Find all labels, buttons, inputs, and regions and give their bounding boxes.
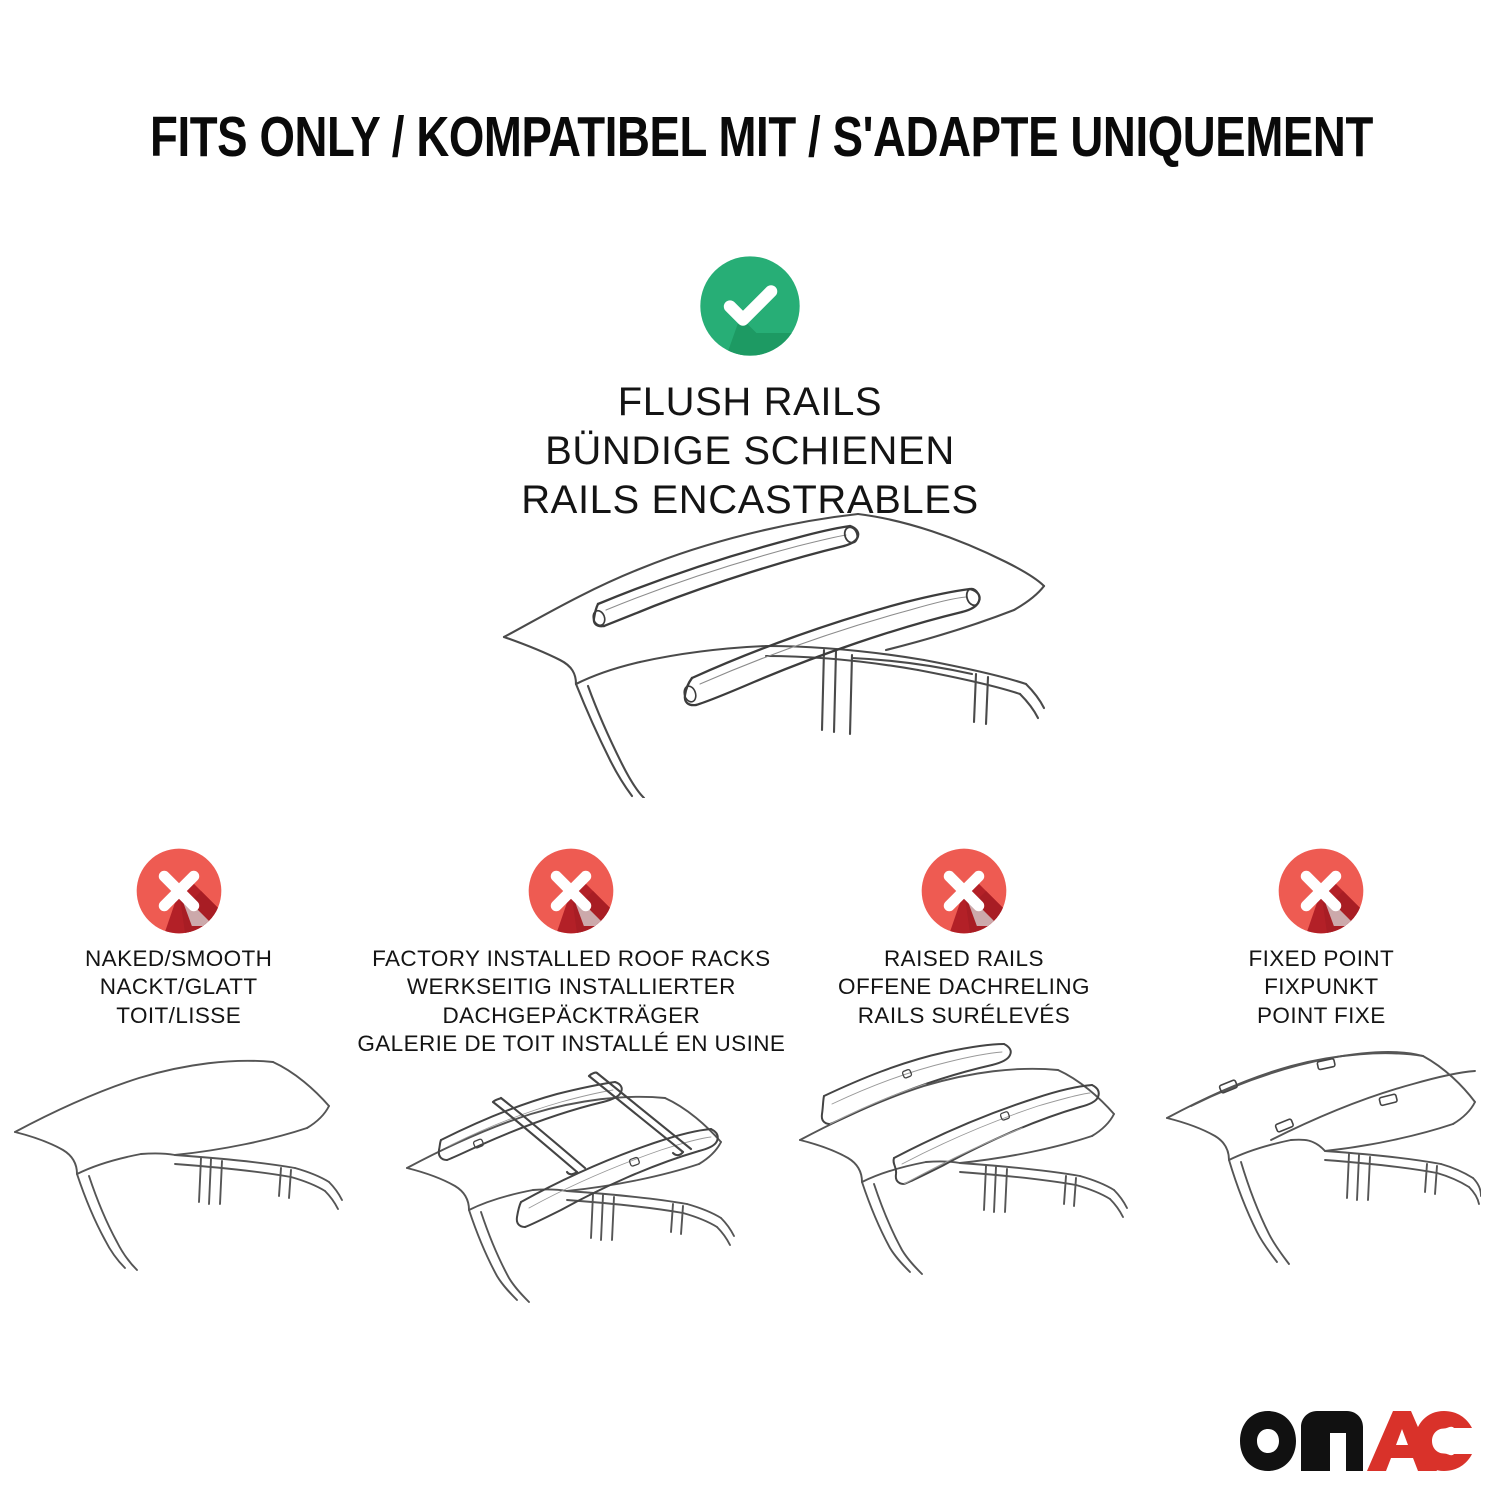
compatible-label-en: FLUSH RAILS: [0, 378, 1500, 427]
omac-logo-letter-m: [1301, 1411, 1363, 1471]
page-title: FITS ONLY / KOMPATIBEL MIT / S'ADAPTE UN…: [150, 104, 1350, 170]
label-line-fr: POINT FIXE: [1248, 1002, 1394, 1030]
label-line-de: OFFENE DACHRELING: [838, 973, 1090, 1001]
red-x-circle-icon: [133, 845, 225, 937]
car-roof-factory-roof-racks-illustration: [357, 1068, 785, 1303]
incompatible-label-fixed-point: FIXED POINT FIXPUNKT POINT FIXE: [1248, 945, 1394, 1030]
label-line-de: FIXPUNKT: [1248, 973, 1394, 1001]
incompatible-label-raised-rails: RAISED RAILS OFFENE DACHRELING RAILS SUR…: [838, 945, 1090, 1030]
label-line-fr: TOIT/LISSE: [85, 1002, 272, 1030]
label-line-en: FIXED POINT: [1248, 945, 1394, 973]
green-check-circle-icon: [696, 252, 804, 360]
omac-logo-letter-o: [1240, 1411, 1296, 1471]
car-roof-naked-smooth-illustration: [0, 1040, 357, 1275]
label-line-de: WERKSEITIG INSTALLIERTER: [357, 973, 785, 1001]
label-line-fr: RAILS SURÉLEVÉS: [838, 1002, 1090, 1030]
compatibility-infographic: FITS ONLY / KOMPATIBEL MIT / S'ADAPTE UN…: [0, 0, 1500, 1500]
incompatible-item-raised-rails: RAISED RAILS OFFENE DACHRELING RAILS SUR…: [785, 845, 1142, 1275]
label-line-de2: DACHGEPÄCKTRÄGER: [357, 1002, 785, 1030]
car-roof-fixed-point-illustration: [1143, 1040, 1500, 1275]
red-x-circle-icon: [525, 845, 617, 937]
incompatible-item-fixed-point: FIXED POINT FIXPUNKT POINT FIXE: [1143, 845, 1500, 1275]
compatible-label-de: BÜNDIGE SCHIENEN: [0, 427, 1500, 476]
label-line-fr: GALERIE DE TOIT INSTALLÉ EN USINE: [357, 1030, 785, 1058]
incompatible-label-factory-roof-racks: FACTORY INSTALLED ROOF RACKS WERKSEITIG …: [357, 945, 785, 1058]
incompatible-label-naked-smooth: NAKED/SMOOTH NACKT/GLATT TOIT/LISSE: [85, 945, 272, 1030]
omac-logo-letter-c: [1415, 1411, 1472, 1471]
compatible-section: FLUSH RAILS BÜNDIGE SCHIENEN RAILS ENCAS…: [0, 252, 1500, 524]
car-roof-raised-rails-illustration: [785, 1040, 1142, 1275]
incompatible-section: NAKED/SMOOTH NACKT/GLATT TOIT/LISSE: [0, 845, 1500, 1303]
label-line-de: NACKT/GLATT: [85, 973, 272, 1001]
label-line-en: FACTORY INSTALLED ROOF RACKS: [357, 945, 785, 973]
incompatible-item-naked-smooth: NAKED/SMOOTH NACKT/GLATT TOIT/LISSE: [0, 845, 357, 1275]
car-roof-with-flush-rails-illustration: [466, 498, 1066, 798]
label-line-en: RAISED RAILS: [838, 945, 1090, 973]
label-line-en: NAKED/SMOOTH: [85, 945, 272, 973]
incompatible-item-factory-roof-racks: FACTORY INSTALLED ROOF RACKS WERKSEITIG …: [357, 845, 785, 1303]
red-x-circle-icon: [1275, 845, 1367, 937]
red-x-circle-icon: [918, 845, 1010, 937]
omac-logo: [1238, 1409, 1474, 1475]
